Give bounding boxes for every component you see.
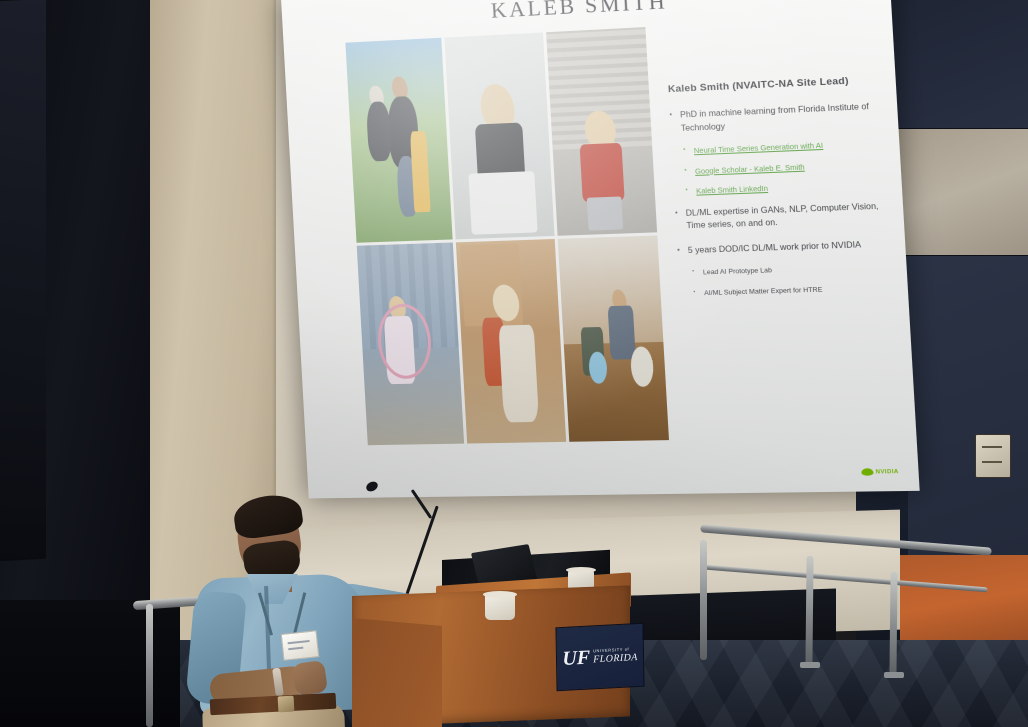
link-text[interactable]: Neural Time Series Generation with AI [694, 141, 824, 157]
coffee-cup-left [485, 594, 515, 620]
presenter-left-hand [292, 660, 328, 696]
right-handrail-post-2 [805, 556, 813, 666]
slide-link-3[interactable]: • Kaleb Smith LinkedIn [685, 179, 885, 198]
slide-subbullet-2: • AI/ML Subject Matter Expert for HTRE [693, 283, 891, 299]
subbullet-text: AI/ML Subject Matter Expert for HTRE [704, 285, 823, 299]
photo-3 [546, 27, 657, 235]
nvidia-eye-icon [861, 468, 873, 476]
uf-initials: UF [562, 648, 590, 669]
photo-collage [345, 27, 669, 445]
handrail-foot [800, 662, 820, 668]
slide-bullet-2: • DL/ML expertise in GANs, NLP, Computer… [675, 200, 888, 233]
belt-buckle-icon [278, 696, 295, 713]
subbullet-text: Lead AI Prototype Lab [703, 266, 772, 278]
left-floor-shadow [0, 600, 180, 727]
bullet-dot-icon: • [685, 187, 691, 198]
name-badge [281, 630, 320, 661]
slide-text-column: Kaleb Smith (NVAITC-NA Site Lead) • PhD … [668, 74, 893, 310]
left-handrail-post [146, 604, 153, 727]
bullet-dot-icon: • [684, 167, 690, 178]
photo-4 [357, 242, 465, 445]
slide-link-2[interactable]: • Google Scholar - Kaleb E. Smith [684, 159, 884, 178]
university-of-florida-plaque: UF UNIVERSITY of FLORIDA [555, 623, 644, 692]
photo-6 [557, 235, 669, 442]
slide-bullet-3: • 5 years DOD/IC DL/ML work prior to NVI… [677, 238, 889, 258]
podium-left-face [352, 618, 442, 727]
uf-logo: UF UNIVERSITY of FLORIDA [562, 645, 638, 669]
handrail-foot [884, 672, 904, 678]
link-text[interactable]: Google Scholar - Kaleb E. Smith [695, 162, 805, 177]
presentation-scene: Utility Panel KALEB SMITH [0, 0, 1028, 727]
link-text[interactable]: Kaleb Smith LinkedIn [696, 184, 768, 198]
right-beige-panel [888, 128, 1028, 256]
slide-bullet-1: • PhD in machine learning from Florida I… [669, 101, 882, 136]
bullet-text: PhD in machine learning from Florida Ins… [680, 101, 882, 135]
right-handrail-post-1 [700, 540, 707, 660]
nvidia-logo-text: NVIDIA [875, 468, 898, 475]
bullet-dot-icon: • [683, 146, 689, 157]
bullet-dot-icon: • [675, 208, 682, 234]
slide-link-1[interactable]: • Neural Time Series Generation with AI [683, 138, 883, 157]
photo-1 [345, 38, 453, 243]
uf-florida-label: FLORIDA [593, 652, 638, 665]
bullet-text: DL/ML expertise in GANs, NLP, Computer V… [685, 200, 887, 233]
bullet-text: 5 years DOD/IC DL/ML work prior to NVIDI… [688, 239, 862, 258]
slide-heading: Kaleb Smith (NVAITC-NA Site Lead) [668, 74, 880, 97]
uf-wordmark: UNIVERSITY of FLORIDA [593, 647, 638, 665]
bullet-dot-icon: • [692, 268, 698, 278]
slide-subbullet-1: • Lead AI Prototype Lab [692, 262, 890, 278]
bullet-dot-icon: • [693, 289, 699, 299]
projection-screen: KALEB SMITH [281, 0, 920, 498]
nvidia-logo: NVIDIA [861, 468, 899, 476]
wall-plate-icon [975, 434, 1011, 478]
right-handrail-post-3 [889, 572, 897, 676]
photo-5 [456, 238, 566, 443]
bullet-dot-icon: • [669, 110, 676, 136]
bullet-dot-icon: • [677, 245, 683, 258]
photo-2 [445, 32, 554, 238]
